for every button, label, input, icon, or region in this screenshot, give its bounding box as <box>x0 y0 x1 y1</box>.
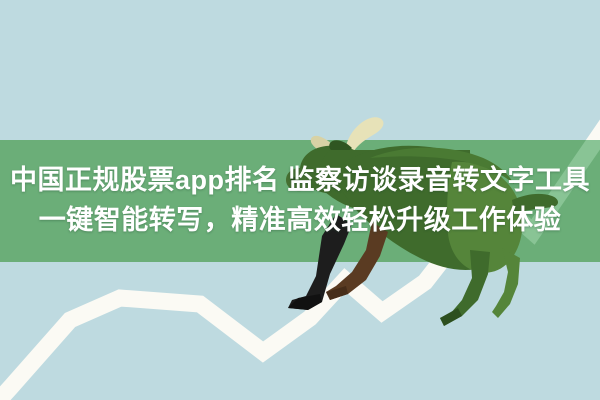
banner-headline: 中国正规股票app排名 监察访谈录音转文字工具 一键智能转写，精准高效轻松升级工… <box>0 160 600 240</box>
headline-line-2: 一键智能转写，精准高效轻松升级工作体验 <box>0 200 600 240</box>
headline-line-1: 中国正规股票app排名 监察访谈录音转文字工具 <box>0 160 600 200</box>
banner-image: 中国正规股票app排名 监察访谈录音转文字工具 一键智能转写，精准高效轻松升级工… <box>0 0 600 400</box>
